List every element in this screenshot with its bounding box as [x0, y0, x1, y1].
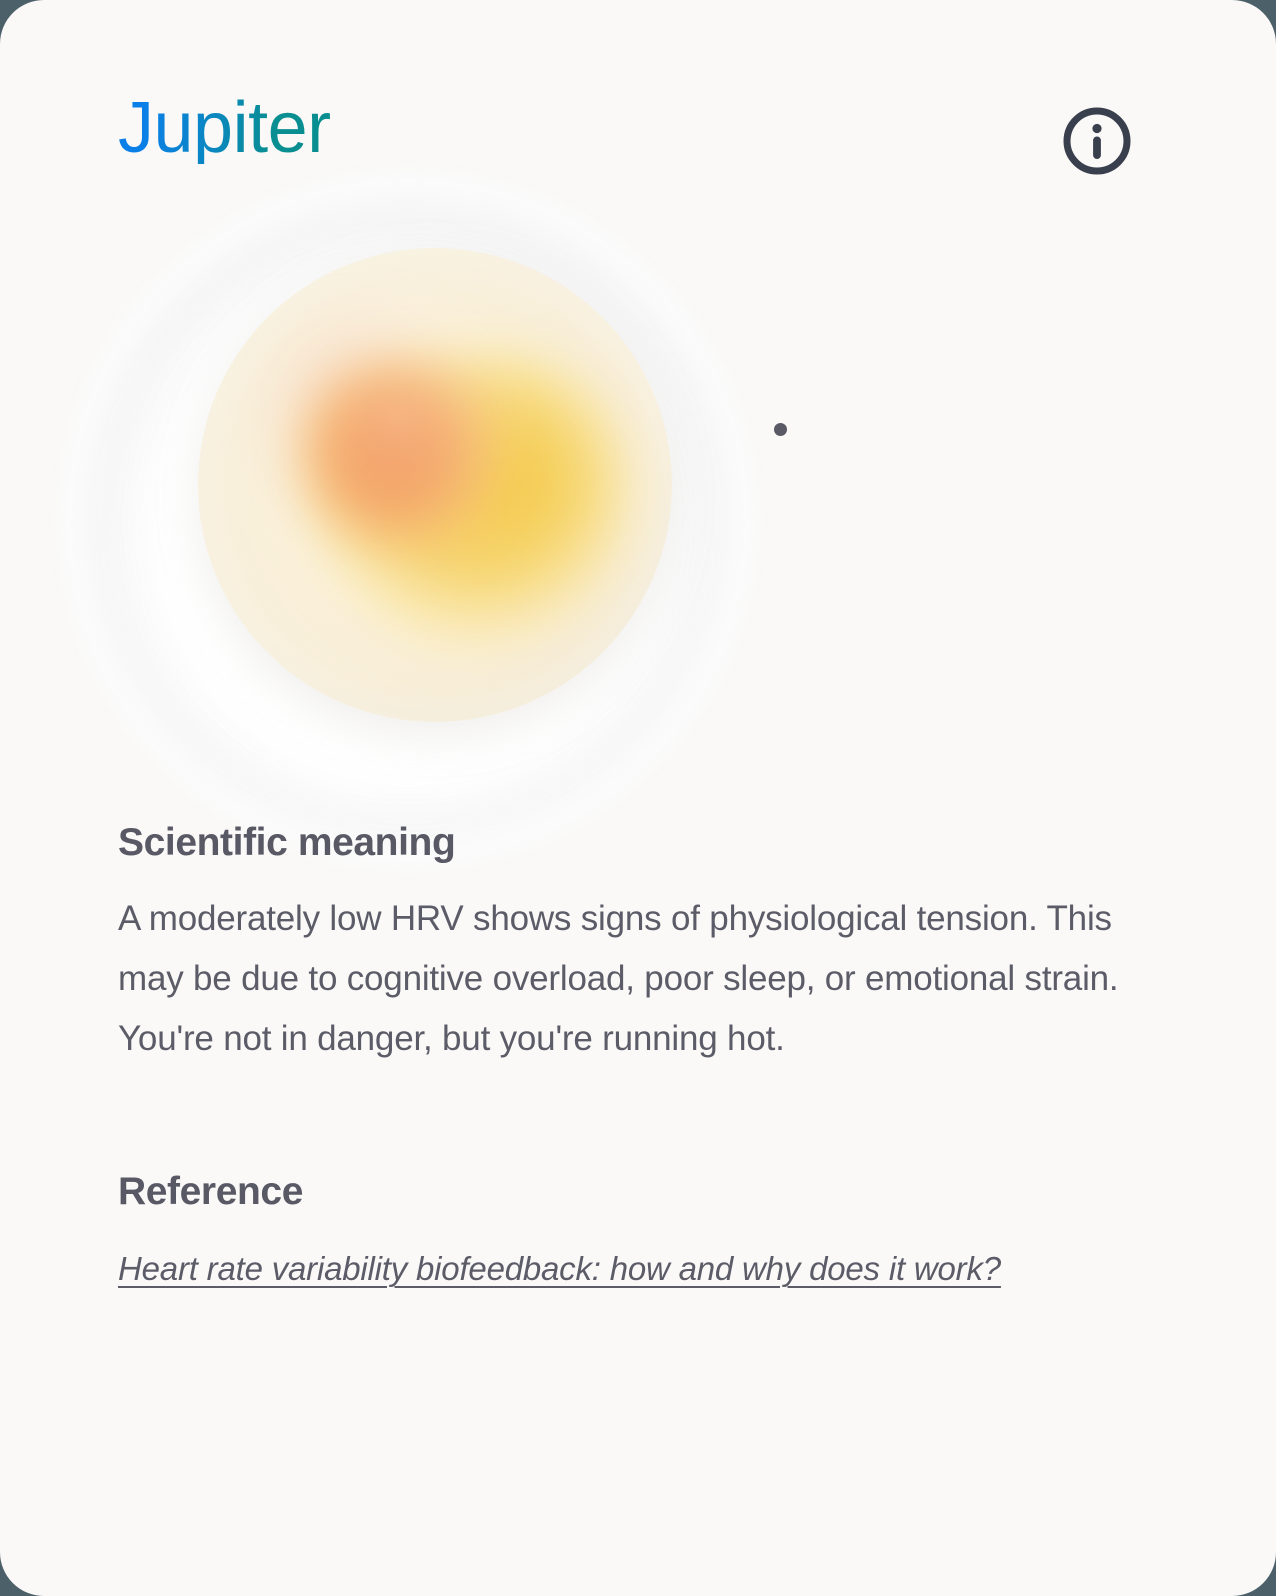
reference-link[interactable]: Heart rate variability biofeedback: how …	[118, 1250, 1001, 1287]
bullet-icon	[774, 423, 787, 436]
section-title-reference: Reference	[118, 1169, 1158, 1216]
reference-link-wrapper: Heart rate variability biofeedback: how …	[118, 1240, 1083, 1297]
planet-orb	[0, 160, 900, 890]
section-spacer	[118, 1069, 1158, 1169]
insight-card: Jupiter Scientific meaning A moderately …	[0, 0, 1276, 1596]
info-circle-icon[interactable]	[1060, 104, 1134, 178]
card-content: Scientific meaning A moderately low HRV …	[118, 820, 1158, 1298]
page-title: Jupiter	[118, 92, 331, 164]
orb-sphere	[198, 248, 672, 722]
section-body-scientific-meaning: A moderately low HRV shows signs of phys…	[118, 889, 1153, 1070]
orb-shading	[198, 248, 672, 722]
section-title-scientific-meaning: Scientific meaning	[118, 820, 1158, 867]
